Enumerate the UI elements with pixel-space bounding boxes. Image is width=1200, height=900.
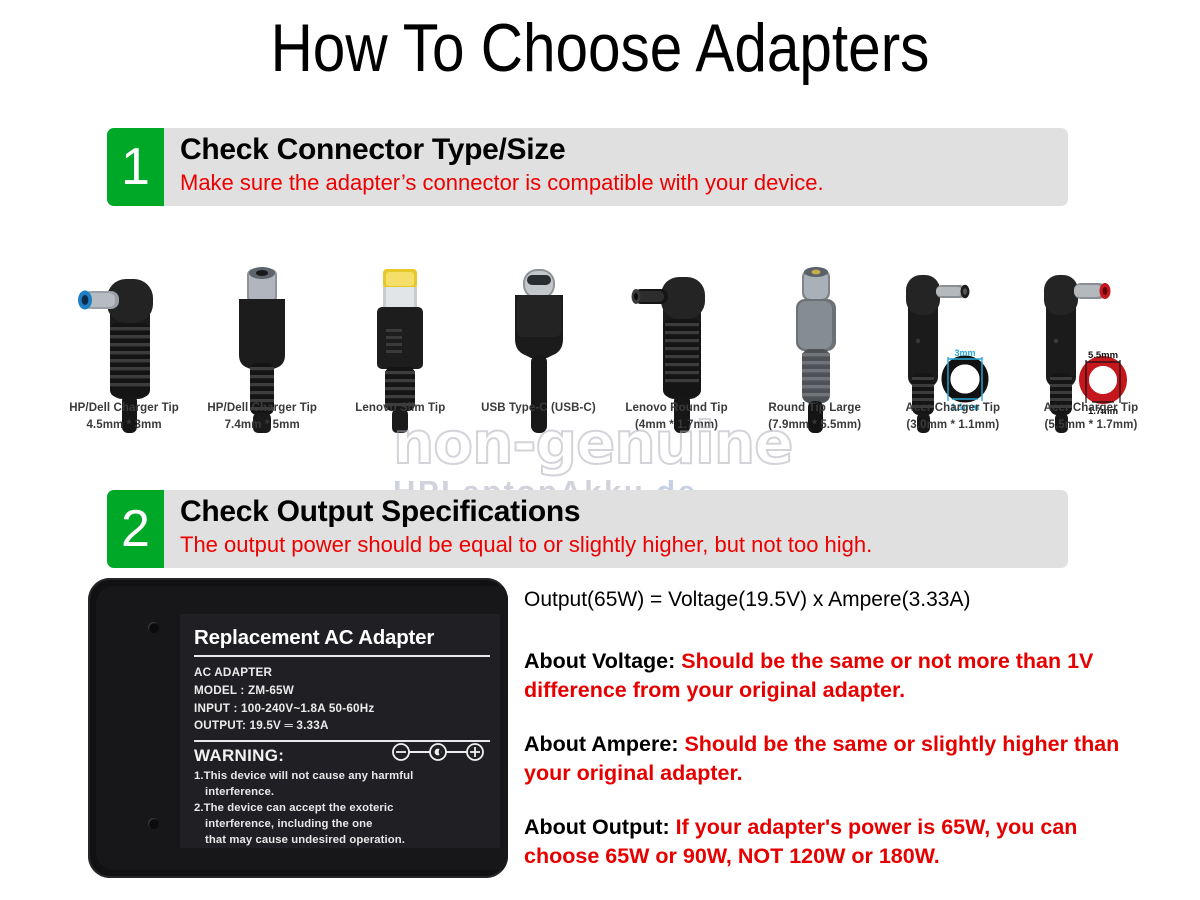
svg-text:5.5mm: 5.5mm <box>1088 350 1118 361</box>
step-2-number-badge: 2 <box>107 490 164 568</box>
about-output-paragraph: About Output: If your adapter's power is… <box>524 813 1124 871</box>
about-ampere-label: About Ampere: <box>524 732 678 756</box>
connector-6-caption: Round Tip Large (7.9mm * 5.5mm) <box>740 400 890 433</box>
adapter-screw-bottom-icon <box>148 818 159 829</box>
svg-text:3mm: 3mm <box>954 348 975 358</box>
adapter-warning-list: 1.This device will not cause any harmful… <box>194 768 500 848</box>
step-1-text-group: Check Connector Type/Size Make sure the … <box>180 131 1060 196</box>
step-2-text-group: Check Output Specifications The output p… <box>180 493 1060 558</box>
connector-2-name: HP/Dell Charger Tip <box>207 402 317 414</box>
connector-7-name: Acer Charger Tip <box>905 402 1000 414</box>
adapter-screw-top-icon <box>148 622 159 633</box>
connector-5-name: Lenovo Round Tip <box>625 402 727 414</box>
polarity-symbol-icon <box>390 742 486 762</box>
adapter-spec-line-1: AC ADAPTER <box>194 664 500 682</box>
page-title: How To Choose Adapters <box>84 14 1116 82</box>
step-2-subtitle: The output power should be equal to or s… <box>180 532 1060 558</box>
connector-8-size: (5.5mm * 1.7mm) <box>1016 417 1166 434</box>
step-2-title: Check Output Specifications <box>180 493 1060 531</box>
connector-1-name: HP/Dell Charger Tip <box>69 402 179 414</box>
connector-4-caption: USB Type-C (USB-C) <box>463 400 613 417</box>
connector-item-4: USB Type-C (USB-C) <box>469 228 607 433</box>
output-explanation-panel: Output(65W) = Voltage(19.5V) x Ampere(3.… <box>524 586 1124 896</box>
about-voltage-paragraph: About Voltage: Should be the same or not… <box>524 647 1124 705</box>
adapter-label-panel: Replacement AC Adapter AC ADAPTER MODEL … <box>180 614 500 848</box>
step-2-header: 2 Check Output Specifications The output… <box>107 490 1068 568</box>
connector-item-6: Round Tip Large (7.9mm * 5.5mm) <box>746 228 884 433</box>
connector-8-name: Acer Charger Tip <box>1044 402 1139 414</box>
warning-line-2: interference. <box>194 784 500 800</box>
connector-1-size: 4.5mm * 3mm <box>49 417 199 434</box>
about-ampere-paragraph: About Ampere: Should be the same or slig… <box>524 730 1124 788</box>
connector-8-caption: Acer Charger Tip (5.5mm * 1.7mm) <box>1016 400 1166 433</box>
connector-3-name: Lenovo Slim Tip <box>355 402 445 414</box>
ac-adapter-photo: Replacement AC Adapter AC ADAPTER MODEL … <box>88 578 508 878</box>
connector-5-caption: Lenovo Round Tip (4mm * 1.7mm) <box>602 400 752 433</box>
about-output-label: About Output: <box>524 815 670 839</box>
step-1-subtitle: Make sure the adapter’s connector is com… <box>180 170 1060 196</box>
connector-7-size: (3.0mm * 1.1mm) <box>878 417 1028 434</box>
step-1-title: Check Connector Type/Size <box>180 131 1060 169</box>
label-divider-top <box>194 655 490 657</box>
output-equation: Output(65W) = Voltage(19.5V) x Ampere(3.… <box>524 586 1124 614</box>
connector-6-size: (7.9mm * 5.5mm) <box>740 417 890 434</box>
connector-4-name: USB Type-C (USB-C) <box>481 402 596 414</box>
adapter-spec-lines: AC ADAPTER MODEL : ZM-65W INPUT : 100-24… <box>194 664 500 735</box>
connector-5-size: (4mm * 1.7mm) <box>602 417 752 434</box>
warning-line-3: 2.The device can accept the exoteric <box>194 800 500 816</box>
connector-item-5: Lenovo Round Tip (4mm * 1.7mm) <box>608 228 746 433</box>
step-1-header: 1 Check Connector Type/Size Make sure th… <box>107 128 1068 206</box>
connector-item-7: 3mm 1.1mm Acer Charger Tip (3.0mm * 1.1m… <box>884 228 1022 433</box>
step-1-number-badge: 1 <box>107 128 164 206</box>
connector-item-8: 5.5mm 1.7mm Acer Charger Tip (5.5mm * 1.… <box>1022 228 1160 433</box>
connector-7-caption: Acer Charger Tip (3.0mm * 1.1mm) <box>878 400 1028 433</box>
connector-item-3: Lenovo Slim Tip <box>331 228 469 433</box>
connector-item-2: HP/Dell Charger Tip 7.4mm * 5mm <box>193 228 331 433</box>
connector-gallery: HP/Dell Charger Tip 4.5mm * 3mm <box>55 228 1160 433</box>
adapter-spec-line-4: OUTPUT: 19.5V ═ 3.33A <box>194 717 500 735</box>
adapter-label-title: Replacement AC Adapter <box>194 626 500 650</box>
adapter-spec-line-3: INPUT : 100-240V~1.8A 50-60Hz <box>194 700 500 718</box>
connector-item-1: HP/Dell Charger Tip 4.5mm * 3mm <box>55 228 193 433</box>
about-voltage-label: About Voltage: <box>524 649 675 673</box>
warning-line-4: interference, including the one <box>194 816 500 832</box>
warning-line-5: that may cause undesired operation. <box>194 832 500 848</box>
connector-1-caption: HP/Dell Charger Tip 4.5mm * 3mm <box>49 400 199 433</box>
warning-line-1: 1.This device will not cause any harmful <box>194 768 500 784</box>
connector-6-name: Round Tip Large <box>768 402 861 414</box>
connector-2-caption: HP/Dell Charger Tip 7.4mm * 5mm <box>187 400 337 433</box>
connector-3-caption: Lenovo Slim Tip <box>325 400 475 417</box>
connector-2-size: 7.4mm * 5mm <box>187 417 337 434</box>
adapter-spec-line-2: MODEL : ZM-65W <box>194 682 500 700</box>
